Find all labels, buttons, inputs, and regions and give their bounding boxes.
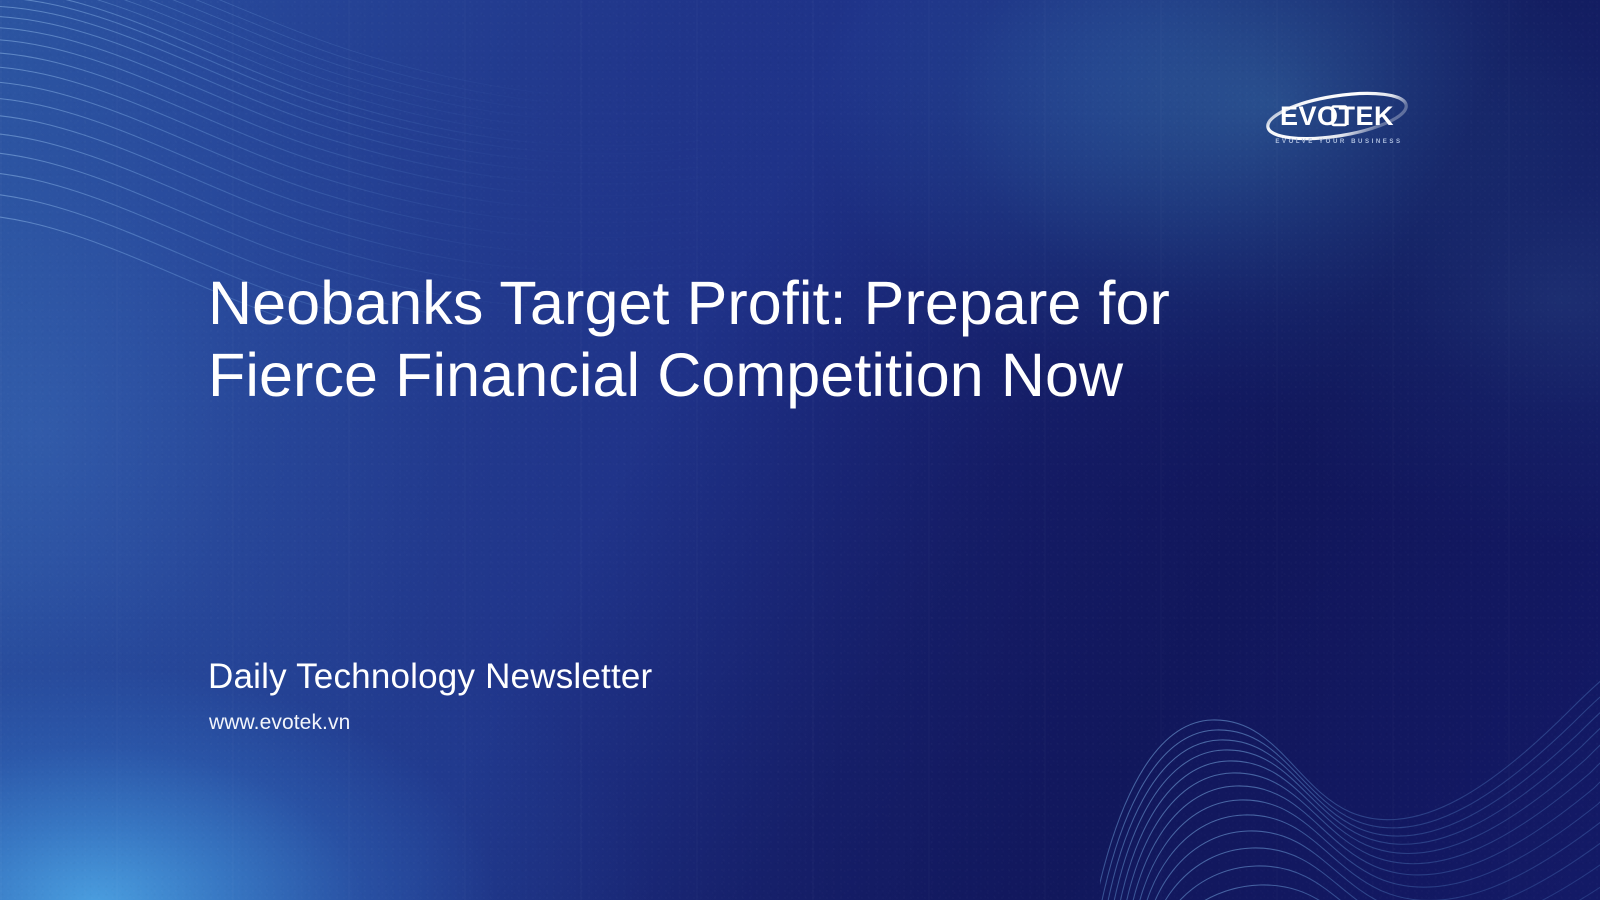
svg-text:EVOLVE YOUR BUSINESS: EVOLVE YOUR BUSINESS	[1275, 138, 1402, 145]
presentation-slide: EVOTEK EVOLVE YOUR BUSINESS Neobanks Tar…	[0, 0, 1600, 900]
website-url[interactable]: www.evotek.vn	[209, 710, 350, 736]
evotek-logo[interactable]: EVOTEK EVOLVE YOUR BUSINESS	[1252, 88, 1422, 156]
wave-lines-bottom-right-icon	[1100, 670, 1600, 900]
evotek-orbit-logo-icon: EVOTEK EVOLVE YOUR BUSINESS	[1252, 88, 1422, 156]
slide-headline: Neobanks Target Profit: Prepare for Fier…	[208, 268, 1328, 412]
slide-subtitle: Daily Technology Newsletter	[208, 656, 652, 698]
